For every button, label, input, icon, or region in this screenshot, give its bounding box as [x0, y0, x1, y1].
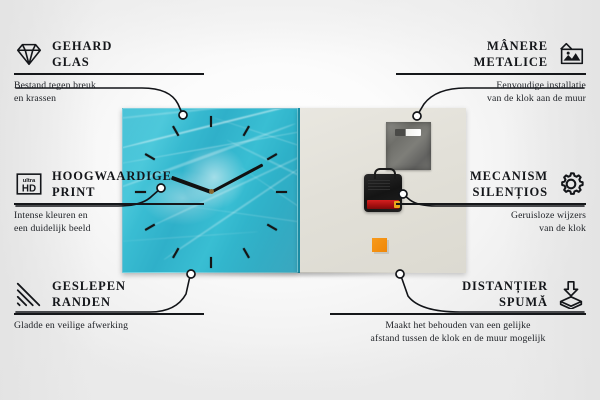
- callout-divider: [396, 203, 586, 205]
- spacer-stack-icon: [556, 279, 586, 309]
- mechanism-detail: [368, 180, 390, 192]
- metal-hanger-plate: [386, 122, 431, 170]
- battery: [367, 200, 399, 209]
- callout-title: MÂNERE METALICE: [474, 38, 548, 70]
- callout-gehard-glas: GEHARD GLAS Bestand tegen breuk en krass…: [14, 38, 204, 105]
- ultra-hd-icon: ultra HD: [14, 169, 44, 199]
- callout-hoogwaardige-print: ultra HD HOOGWAARDIGE PRINT Intense kleu…: [14, 168, 204, 235]
- callout-description: Maakt het behouden van een gelijke afsta…: [330, 319, 586, 345]
- callout-mecanism-silentios: MECANISM SILENȚIOS Geruisloze wijzers va…: [396, 168, 586, 235]
- clock-tick: [210, 116, 212, 192]
- callout-divider: [14, 203, 204, 205]
- callout-divider: [14, 73, 204, 75]
- callout-title: HOOGWAARDIGE PRINT: [52, 168, 172, 200]
- picture-frame-icon: [556, 39, 586, 69]
- callout-divider: [14, 313, 204, 315]
- clock-tick: [211, 191, 287, 193]
- callout-geslepen-randen: GESLEPEN RANDEN Gladde en veilige afwerk…: [14, 278, 204, 332]
- callout-divider: [396, 73, 586, 75]
- svg-text:HD: HD: [22, 184, 36, 195]
- callout-distantier-spuma: DISTANȚIER SPUMĂ Maakt het behouden van …: [330, 278, 586, 345]
- callout-description: Bestand tegen breuk en krassen: [14, 79, 204, 105]
- callout-title: GESLEPEN RANDEN: [52, 278, 126, 310]
- gear-icon: [556, 169, 586, 199]
- diamond-icon: [14, 39, 44, 69]
- beveled-edges-icon: [14, 279, 44, 309]
- callout-description: Gladde en veilige afwerking: [14, 319, 204, 332]
- callout-description: Intense kleuren en een duidelijk beeld: [14, 209, 204, 235]
- foam-spacer: [372, 238, 387, 252]
- clock-tick: [210, 192, 212, 268]
- callout-description: Geruisloze wijzers van de klok: [396, 209, 586, 235]
- callout-manere-metalice: MÂNERE METALICE Eenvoudige installatie v…: [396, 38, 586, 105]
- callout-divider: [330, 313, 586, 315]
- callout-title: DISTANȚIER SPUMĂ: [462, 278, 548, 310]
- clock-center-pin: [209, 189, 214, 194]
- callout-description: Eenvoudige installatie van de klok aan d…: [396, 79, 586, 105]
- callout-title: GEHARD GLAS: [52, 38, 112, 70]
- callout-title: MECANISM SILENȚIOS: [470, 168, 548, 200]
- mechanism-hook: [374, 168, 396, 179]
- product-infographic: GEHARD GLAS Bestand tegen breuk en krass…: [0, 0, 600, 400]
- hanger-slot: [395, 129, 421, 136]
